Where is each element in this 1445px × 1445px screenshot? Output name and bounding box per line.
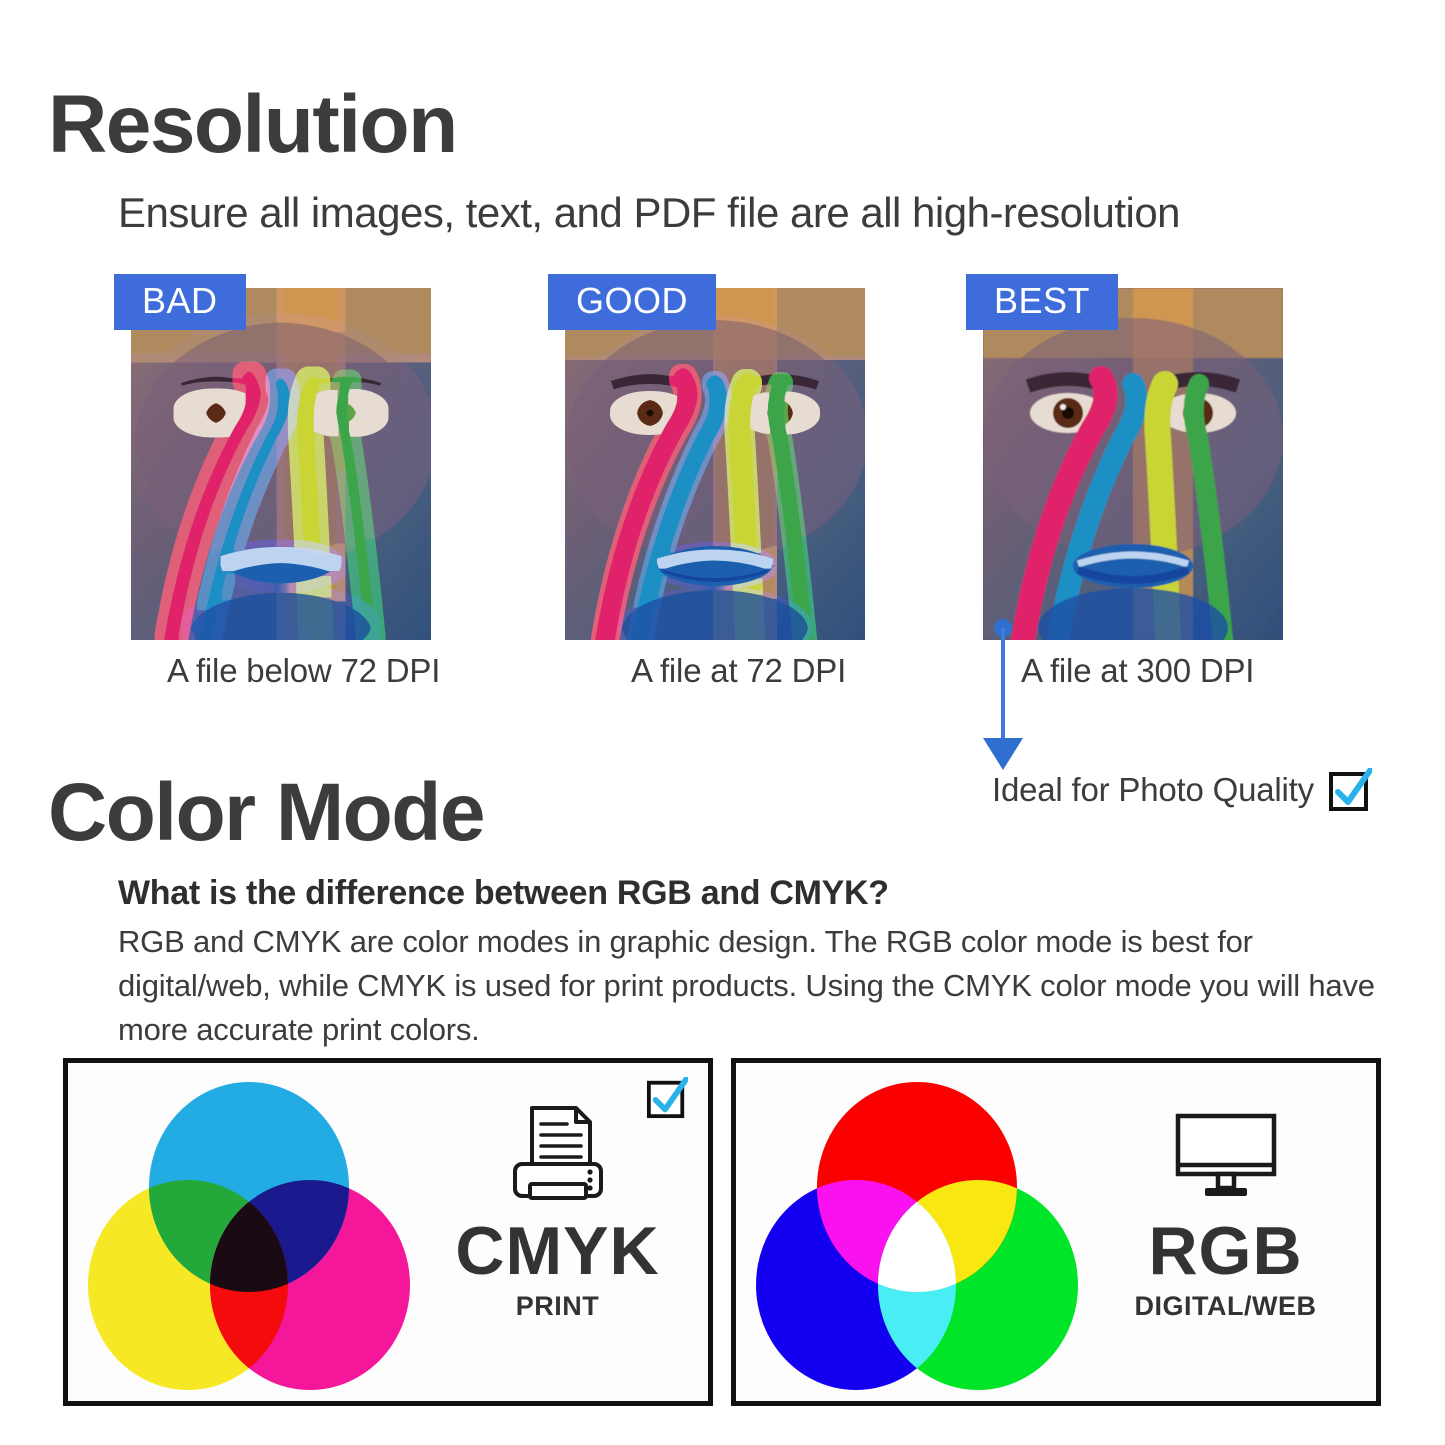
face-artwork-bad [131, 288, 431, 640]
face-artwork-good [565, 288, 865, 640]
cmyk-panel-side: CMYK PRINT [435, 1101, 680, 1322]
rgb-venn-svg [752, 1075, 1082, 1395]
sample-image-good [565, 288, 865, 640]
rgb-label: RGB [1148, 1217, 1302, 1285]
printer-icon [510, 1101, 606, 1211]
cmyk-label: CMYK [455, 1217, 659, 1285]
checked-checkbox-icon [1328, 768, 1372, 812]
sample-badge-good: GOOD [548, 274, 716, 330]
sample-image-bad [131, 288, 431, 640]
cmyk-venn-diagram [84, 1075, 414, 1395]
color-mode-panel-rgb[interactable]: RGB DIGITAL/WEB [731, 1058, 1381, 1406]
sample-badge-bad: BAD [114, 274, 246, 330]
monitor-icon [1172, 1101, 1280, 1211]
sample-card-bad: BAD [131, 288, 431, 640]
page-title-color-mode: Color Mode [48, 772, 484, 854]
rgb-venn-diagram [752, 1075, 1082, 1395]
sample-caption-good: A file at 72 DPI [631, 652, 846, 690]
sample-caption-bad: A file below 72 DPI [167, 652, 440, 690]
sample-card-best: BEST [983, 288, 1283, 640]
color-mode-panel-cmyk[interactable]: CMYK PRINT [63, 1058, 713, 1406]
resolution-subtitle: Ensure all images, text, and PDF file ar… [118, 192, 1180, 234]
monitor-icon-svg [1172, 1110, 1280, 1202]
sample-card-good: GOOD [565, 288, 865, 640]
printer-icon-svg [510, 1104, 606, 1208]
checked-checkbox-icon [646, 1077, 688, 1119]
ideal-photo-quality-callout: Ideal for Photo Quality [992, 768, 1372, 812]
ideal-photo-quality-label: Ideal for Photo Quality [992, 771, 1314, 809]
ideal-checkbox[interactable] [1328, 768, 1372, 812]
down-arrow-icon [975, 612, 1035, 777]
page-title-resolution: Resolution [48, 84, 457, 166]
color-mode-question: What is the difference between RGB and C… [118, 874, 889, 913]
rgb-panel-side: RGB DIGITAL/WEB [1103, 1101, 1348, 1322]
face-artwork-best [983, 288, 1283, 640]
sample-image-best [983, 288, 1283, 640]
color-mode-body-text: RGB and CMYK are color modes in graphic … [118, 920, 1388, 1052]
cmyk-venn-svg [84, 1075, 414, 1395]
sample-badge-best: BEST [966, 274, 1118, 330]
sample-caption-best: A file at 300 DPI [1021, 652, 1254, 690]
cmyk-selected-checkbox[interactable] [646, 1077, 688, 1119]
rgb-sublabel: DIGITAL/WEB [1135, 1291, 1317, 1322]
cmyk-sublabel: PRINT [516, 1291, 600, 1322]
callout-arrow [975, 612, 1035, 777]
